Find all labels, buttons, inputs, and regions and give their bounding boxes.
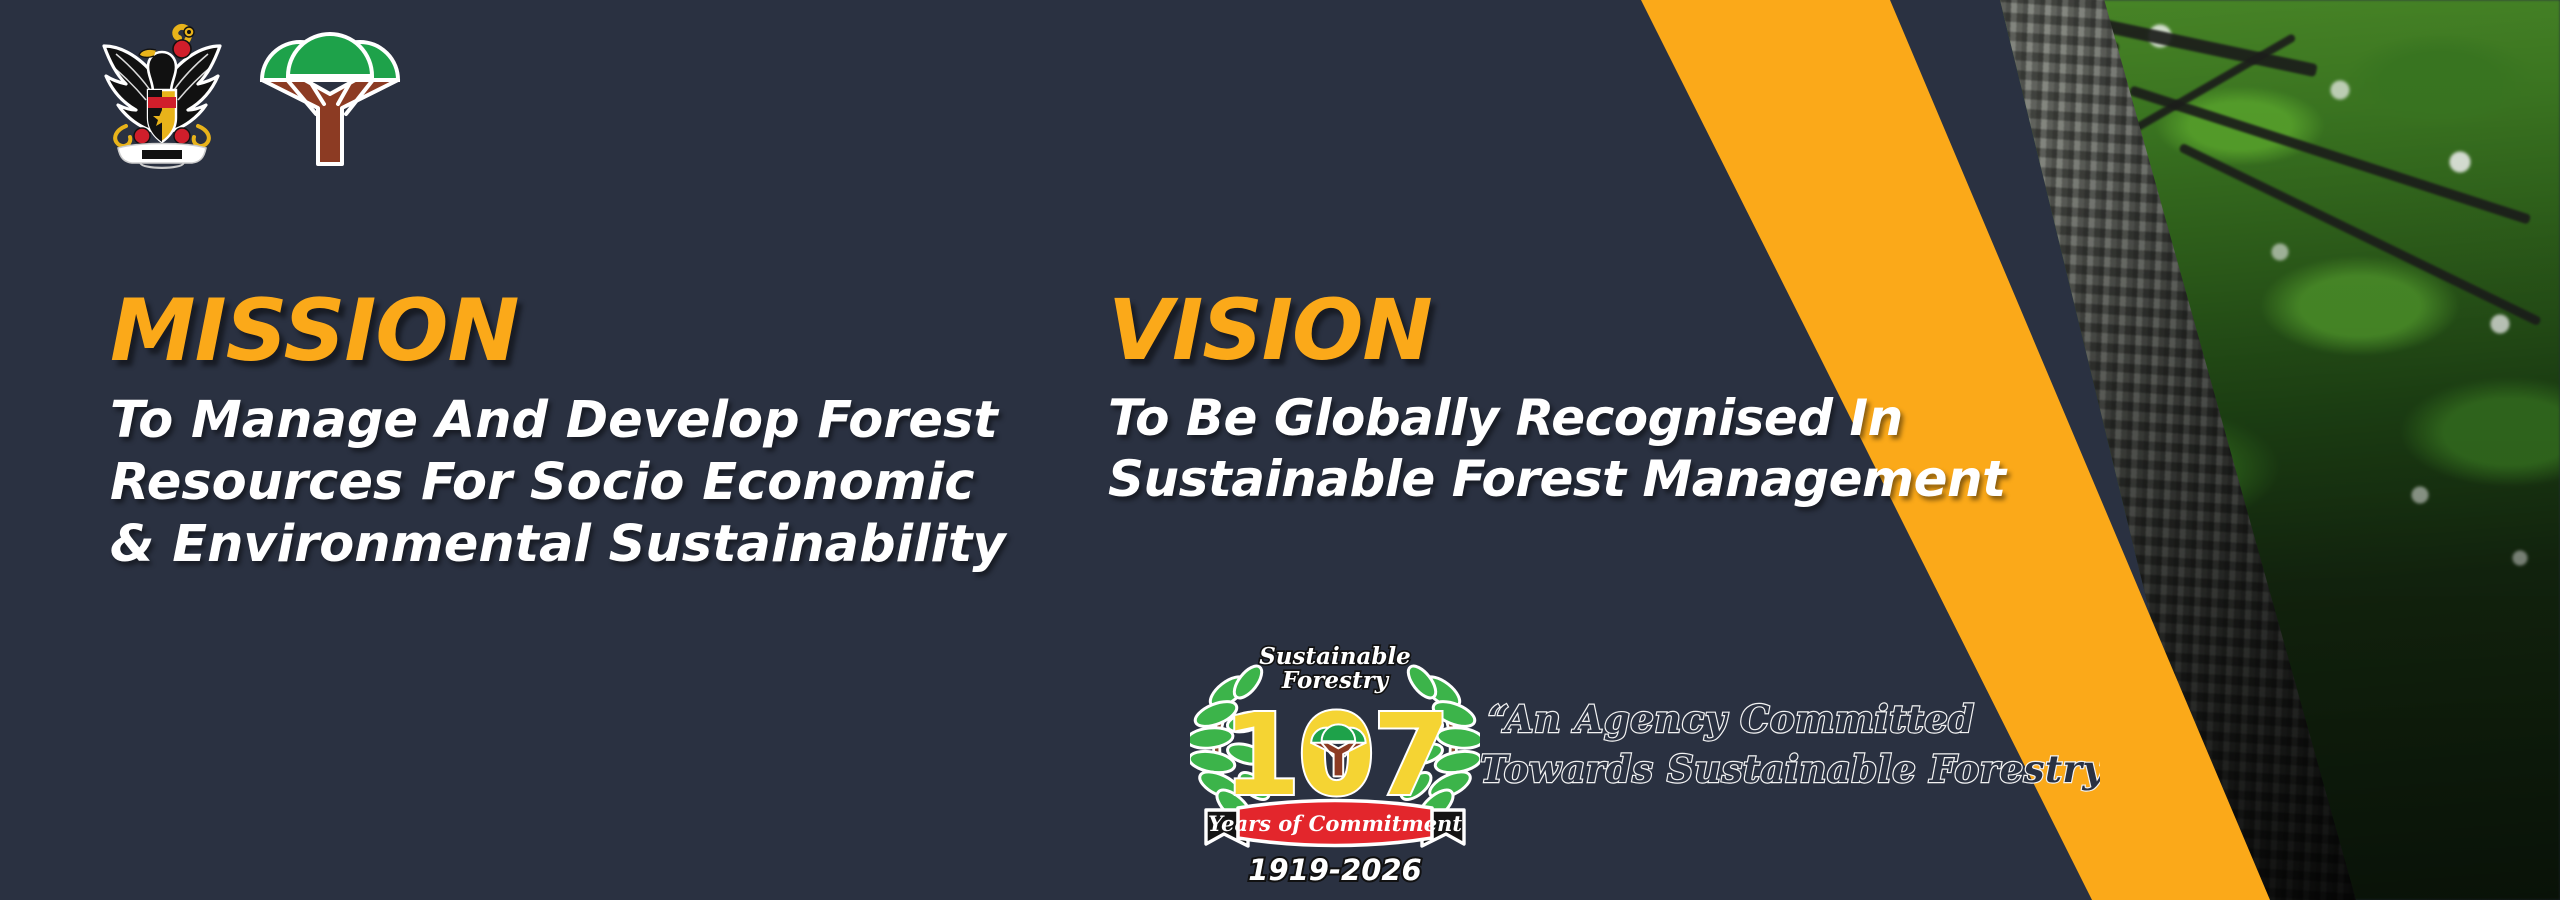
sarawak-coat-of-arms-icon xyxy=(96,18,228,170)
mission-heading: MISSION xyxy=(110,288,1050,374)
badge-top-line-1: Sustainable xyxy=(1259,643,1411,670)
tagline-line-2: Towards Sustainable Forestry” xyxy=(1480,747,2100,791)
tagline-line-1: “An Agency Committed xyxy=(1488,697,1975,741)
badge-top-line-2: Forestry xyxy=(1281,667,1390,694)
mission-line-3: & Environmental Sustainability xyxy=(110,514,1050,576)
mission-vision-banner: MISSION To Manage And Develop Forest Res… xyxy=(0,0,2560,900)
forest-tree-logo-icon xyxy=(254,18,406,166)
anniversary-badge-107: Sustainable Forestry 107 Years of Commi xyxy=(1190,622,1480,900)
mission-line-1: To Manage And Develop Forest xyxy=(110,390,1050,452)
ribbon-text: Years of Commitment xyxy=(1208,811,1462,836)
tagline: “An Agency Committed Towards Sustainable… xyxy=(1480,690,2100,800)
logo-row xyxy=(96,18,406,170)
vision-heading: VISION xyxy=(1108,288,2068,372)
mission-line-2: Resources For Socio Economic xyxy=(110,452,1050,514)
vision-line-1: To Be Globally Recognised In xyxy=(1108,388,2068,449)
vision-block: VISION To Be Globally Recognised In Sust… xyxy=(1108,288,2068,510)
vision-line-2: Sustainable Forest Management xyxy=(1108,449,2068,510)
badge-years: 1919-2026 xyxy=(1248,853,1421,887)
mission-block: MISSION To Manage And Develop Forest Res… xyxy=(110,288,1050,577)
